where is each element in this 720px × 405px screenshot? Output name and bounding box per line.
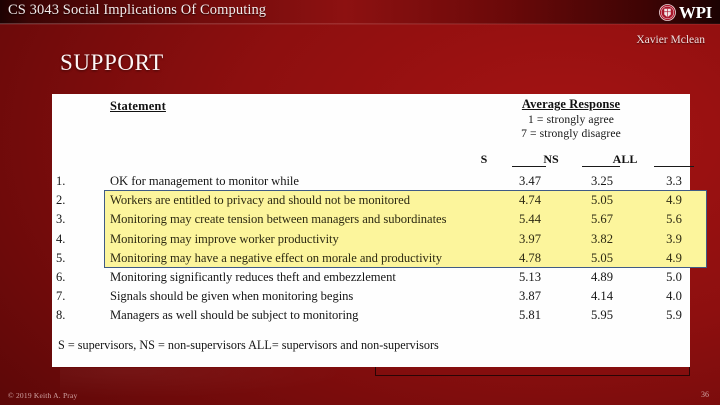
row-number: 3.: [56, 212, 78, 227]
figure-underframe: [375, 367, 690, 376]
row-value-s: 4.78: [510, 251, 550, 266]
row-value-ns: 3.25: [582, 174, 622, 189]
average-response-header: Average Response: [456, 97, 686, 112]
scale-line-2: 7 = strongly disagree: [456, 127, 686, 140]
row-statement: Signals should be given when monitoring …: [110, 289, 353, 304]
row-number: 5.: [56, 251, 78, 266]
row-statement: Monitoring significantly reduces theft a…: [110, 270, 396, 285]
slide: CS 3043 Social Implications Of Computing…: [0, 0, 720, 405]
value-column-headers: S NS ALL: [456, 152, 694, 167]
row-statement: Monitoring may create tension between ma…: [110, 212, 446, 227]
table-row: 4.Monitoring may improve worker producti…: [52, 232, 690, 251]
row-value-ns: 3.82: [582, 232, 622, 247]
table-row: 7.Signals should be given when monitorin…: [52, 289, 690, 308]
row-value-ns: 5.05: [582, 251, 622, 266]
table-row: 8.Managers as well should be subject to …: [52, 308, 690, 327]
row-value-s: 3.87: [510, 289, 550, 304]
row-statement: Managers as well should be subject to mo…: [110, 308, 358, 323]
wpi-seal-icon: [659, 4, 676, 21]
row-value-ns: 4.14: [582, 289, 622, 304]
row-value-ns: 5.67: [582, 212, 622, 227]
row-number: 7.: [56, 289, 78, 304]
table-row: 5.Monitoring may have a negative effect …: [52, 251, 690, 270]
row-number: 1.: [56, 174, 78, 189]
row-value-s: 5.81: [510, 308, 550, 323]
column-header-ns: NS: [512, 152, 590, 167]
row-value-all: 4.9: [654, 251, 694, 266]
row-value-all: 4.9: [654, 193, 694, 208]
row-number: 8.: [56, 308, 78, 323]
legend-note: S = supervisors, NS = non-supervisors AL…: [58, 338, 439, 353]
table-row: 2.Workers are entitled to privacy and sh…: [52, 193, 690, 212]
row-value-all: 3.3: [654, 174, 694, 189]
copyright-notice: © 2019 Keith A. Pray: [8, 391, 78, 400]
table-row: 3.Monitoring may create tension between …: [52, 212, 690, 231]
column-rule-all: [654, 166, 694, 167]
row-value-all: 5.6: [654, 212, 694, 227]
scanned-table-figure: Statement Average Response 1 = strongly …: [52, 94, 690, 367]
row-statement: Monitoring may improve worker productivi…: [110, 232, 339, 247]
statement-column-header: Statement: [110, 99, 166, 114]
row-value-ns: 5.05: [582, 193, 622, 208]
column-header-s: S: [456, 152, 512, 167]
column-rule-ns: [582, 166, 620, 167]
average-response-header-block: Average Response 1 = strongly agree 7 = …: [456, 97, 686, 140]
page-title: SUPPORT: [60, 50, 164, 76]
slide-banner: CS 3043 Social Implications Of Computing…: [0, 0, 720, 24]
row-value-all: 4.0: [654, 289, 694, 304]
row-value-all: 5.9: [654, 308, 694, 323]
row-statement: OK for management to monitor while: [110, 174, 299, 189]
column-rule-s: [512, 166, 546, 167]
row-value-s: 4.74: [510, 193, 550, 208]
row-value-all: 3.9: [654, 232, 694, 247]
row-statement: Workers are entitled to privacy and shou…: [110, 193, 410, 208]
column-header-all: ALL: [590, 152, 660, 167]
table-row: 6.Monitoring significantly reduces theft…: [52, 270, 690, 289]
row-number: 6.: [56, 270, 78, 285]
author-name: Xavier Mclean: [636, 34, 705, 46]
decorative-swoosh: [60, 368, 380, 402]
row-statement: Monitoring may have a negative effect on…: [110, 251, 442, 266]
row-value-s: 3.97: [510, 232, 550, 247]
row-number: 2.: [56, 193, 78, 208]
row-value-s: 5.13: [510, 270, 550, 285]
row-value-s: 3.47: [510, 174, 550, 189]
row-number: 4.: [56, 232, 78, 247]
row-value-ns: 5.95: [582, 308, 622, 323]
wpi-logo-text: WPI: [679, 4, 712, 21]
scale-line-1: 1 = strongly agree: [456, 113, 686, 126]
row-value-ns: 4.89: [582, 270, 622, 285]
row-value-s: 5.44: [510, 212, 550, 227]
table-row: 1.OK for management to monitor while3.47…: [52, 174, 690, 193]
page-number: 36: [701, 390, 709, 399]
row-value-all: 5.0: [654, 270, 694, 285]
wpi-logo: WPI: [659, 1, 712, 23]
course-title: CS 3043 Social Implications Of Computing: [8, 2, 266, 19]
